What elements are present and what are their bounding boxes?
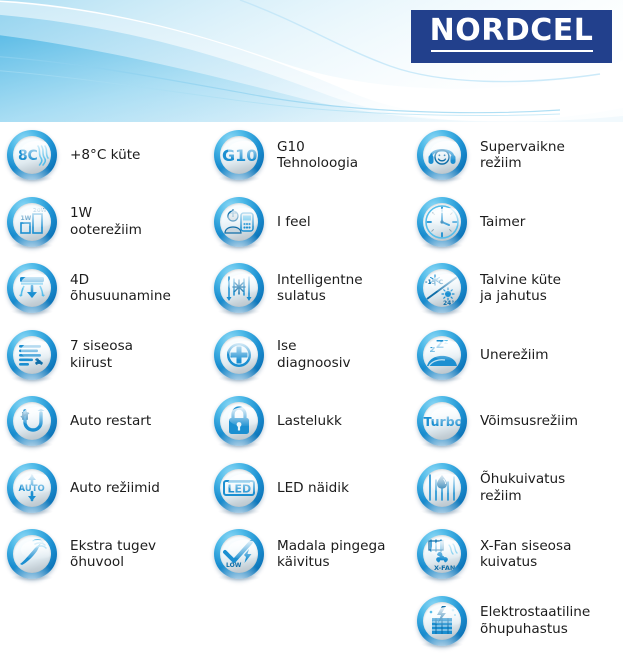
feature-item: Ise diagnoosiv (209, 322, 416, 389)
icon-face: 1W 20W (13, 203, 51, 241)
self-diagnosis-icon (214, 330, 264, 380)
feature-item: Lastelukk (209, 388, 416, 455)
feature-item: Elektrostaatiline õhupuhastus (412, 588, 619, 654)
icon-face: X-FAN (423, 535, 461, 573)
svg-text:z: z (444, 338, 448, 346)
icon-face: -15℃ 24℃ (423, 269, 461, 307)
feature-item: LED LED näidik (209, 455, 416, 522)
icon-face: LOW (220, 535, 258, 573)
low-voltage-startup-icon: LOW (214, 529, 264, 579)
feature-label: Auto restart (70, 413, 151, 429)
feature-item: 4D õhusuunamine (2, 255, 209, 322)
feature-label: Taimer (480, 214, 525, 230)
feature-label: Elektrostaatiline õhupuhastus (480, 604, 590, 637)
feature-grid: 8 C +8°C küte 1W 20W1W ooterežiim 4D õhu… (0, 122, 623, 636)
icon-face (220, 336, 258, 374)
feature-label: Võimsusrežiim (480, 413, 578, 429)
feature-item: Õhukuivatus režiim (412, 455, 619, 522)
icon-face (220, 402, 258, 440)
feature-item: Ekstra tugev õhuvool (2, 521, 209, 588)
feature-label: Intelligentne sulatus (277, 272, 363, 305)
icon-face (13, 336, 51, 374)
page-header: NORDCEL (0, 0, 623, 122)
extra-strong-airflow-icon (7, 529, 57, 579)
feature-label: Unerežiim (480, 347, 549, 363)
feature-label: Õhukuivatus režiim (480, 471, 565, 504)
feature-label: Supervaikne režiim (480, 139, 565, 172)
auto-mode-icon: AUTO (7, 463, 57, 513)
svg-text:20W: 20W (33, 208, 47, 214)
icon-face (13, 535, 51, 573)
intelligent-defrost-icon (214, 263, 264, 313)
icon-face (423, 469, 461, 507)
icon-face (220, 269, 258, 307)
x-fan-drying-icon: X-FAN (417, 529, 467, 579)
icon-face (423, 136, 461, 174)
turbo-mode-icon: Turbo (417, 396, 467, 446)
icon-face (13, 402, 51, 440)
feature-label: G10 Tehnoloogia (277, 139, 358, 172)
feature-item: 7 siseosa kiirust (2, 322, 209, 389)
feature-item: G10G10 Tehnoloogia (209, 122, 416, 189)
svg-text:C: C (28, 148, 38, 164)
icon-face (220, 203, 258, 241)
child-lock-icon (214, 396, 264, 446)
feature-label: 1W ooterežiim (70, 205, 142, 238)
svg-text:Z: Z (436, 338, 444, 351)
brand-logo-text: NORDCEL (430, 10, 594, 52)
feature-column-3: Supervaikne režiim Taimer -15℃ 24℃Talvin… (412, 122, 619, 654)
svg-text:8: 8 (18, 148, 28, 164)
led-display-icon: LED (214, 463, 264, 513)
feature-item: Taimer (412, 189, 619, 256)
feature-label: X-Fan siseosa kuivatus (480, 538, 571, 571)
feature-item: Intelligentne sulatus (209, 255, 416, 322)
dry-mode-icon (417, 463, 467, 513)
feature-label: Madala pingega käivitus (277, 538, 385, 571)
feature-label: Lastelukk (277, 413, 342, 429)
icon-face: AUTO (13, 469, 51, 507)
timer-icon (417, 197, 467, 247)
svg-text:X-FAN: X-FAN (434, 564, 455, 572)
sleep-mode-icon: z Z z (417, 330, 467, 380)
i-feel-icon (214, 197, 264, 247)
feature-item: X-FANX-Fan siseosa kuivatus (412, 521, 619, 588)
feature-item: -15℃ 24℃Talvine küte ja jahutus (412, 255, 619, 322)
feature-item: I feel (209, 189, 416, 256)
feature-item: AUTOAuto režiimid (2, 455, 209, 522)
svg-text:G10: G10 (222, 146, 257, 165)
super-quiet-mode-icon (417, 130, 467, 180)
svg-text:LOW: LOW (226, 562, 242, 569)
feature-label: LED näidik (277, 480, 349, 496)
four-d-airflow-icon (7, 263, 57, 313)
feature-label: +8°C küte (70, 147, 140, 163)
svg-text:LED: LED (228, 482, 252, 495)
auto-restart-icon (7, 396, 57, 446)
feature-label: Ekstra tugev õhuvool (70, 538, 156, 571)
icon-face (423, 203, 461, 241)
svg-text:AUTO: AUTO (19, 484, 45, 494)
feature-item: z Z zUnerežiim (412, 322, 619, 389)
svg-text:1W: 1W (21, 215, 32, 222)
icon-face (13, 269, 51, 307)
icon-face: 8 C (13, 136, 51, 174)
electrostatic-air-purification-icon (417, 596, 467, 646)
feature-column-1: 8 C +8°C küte 1W 20W1W ooterežiim 4D õhu… (2, 122, 209, 588)
icon-face (423, 602, 461, 640)
eight-degree-heating-icon: 8 C (7, 130, 57, 180)
brand-logo-underline (431, 50, 593, 52)
feature-column-2: G10G10 Tehnoloogia I feel Intelligentne … (209, 122, 416, 588)
feature-label: 4D õhusuunamine (70, 272, 171, 305)
winter-heating-cooling-icon: -15℃ 24℃ (417, 263, 467, 313)
icon-face: LED (220, 469, 258, 507)
icon-face: G10 (220, 136, 258, 174)
feature-label: 7 siseosa kiirust (70, 338, 133, 371)
feature-label: Auto režiimid (70, 480, 160, 496)
svg-text:z: z (430, 345, 435, 355)
one-watt-standby-icon: 1W 20W (7, 197, 57, 247)
feature-label: I feel (277, 214, 311, 230)
seven-fan-speeds-icon (7, 330, 57, 380)
svg-text:24℃: 24℃ (443, 300, 459, 307)
feature-item: TurboVõimsusrežiim (412, 388, 619, 455)
feature-item: 8 C +8°C küte (2, 122, 209, 189)
feature-label: Talvine küte ja jahutus (480, 272, 561, 305)
feature-item: Auto restart (2, 388, 209, 455)
icon-face: z Z z (423, 336, 461, 374)
svg-text:-15℃: -15℃ (425, 279, 443, 286)
feature-item: LOWMadala pingega käivitus (209, 521, 416, 588)
brand-logo: NORDCEL (411, 10, 612, 63)
feature-item: Supervaikne režiim (412, 122, 619, 189)
svg-text:Turbo: Turbo (424, 414, 462, 429)
g10-technology-icon: G10 (214, 130, 264, 180)
icon-face: Turbo (423, 402, 461, 440)
feature-label: Ise diagnoosiv (277, 338, 351, 371)
feature-item: 1W 20W1W ooterežiim (2, 189, 209, 256)
